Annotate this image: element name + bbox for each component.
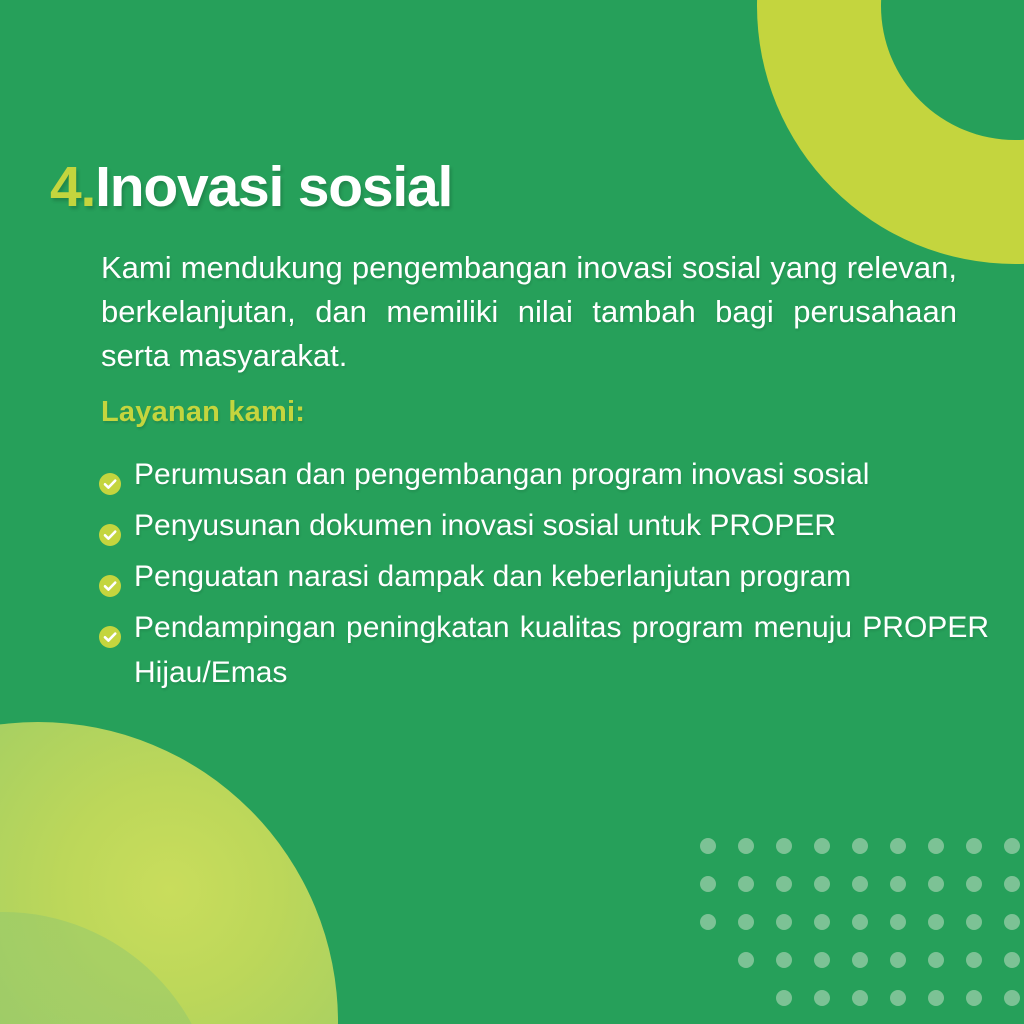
list-item-label: Perumusan dan pengembangan program inova… <box>134 458 869 491</box>
services-subheading: Layanan kami: <box>101 396 305 429</box>
list-item-label: Penyusunan dokumen inovasi sosial untuk … <box>134 509 836 542</box>
slide-content: 4.Inovasi sosial Kami mendukung pengemba… <box>0 0 1024 1024</box>
services-list: Perumusan dan pengembangan program inova… <box>99 452 989 701</box>
list-item: Penguatan narasi dampak dan keberlanjuta… <box>99 554 989 599</box>
check-circle-icon <box>99 565 121 587</box>
check-circle-icon <box>99 463 121 485</box>
check-circle-icon <box>99 514 121 536</box>
page-title-text: Inovasi sosial <box>95 155 452 219</box>
intro-paragraph: Kami mendukung pengembangan inovasi sosi… <box>101 246 957 378</box>
list-item: Penyusunan dokumen inovasi sosial untuk … <box>99 503 989 548</box>
list-item: Pendampingan peningkatan kualitas progra… <box>99 605 989 695</box>
list-item-label: Pendampingan peningkatan kualitas progra… <box>134 611 989 689</box>
page-title-number: 4. <box>50 155 95 219</box>
slide-canvas: 4.Inovasi sosial Kami mendukung pengemba… <box>0 0 1024 1024</box>
page-title: 4.Inovasi sosial <box>50 158 452 218</box>
check-circle-icon <box>99 616 121 638</box>
list-item: Perumusan dan pengembangan program inova… <box>99 452 989 497</box>
list-item-label: Penguatan narasi dampak dan keberlanjuta… <box>134 560 851 593</box>
